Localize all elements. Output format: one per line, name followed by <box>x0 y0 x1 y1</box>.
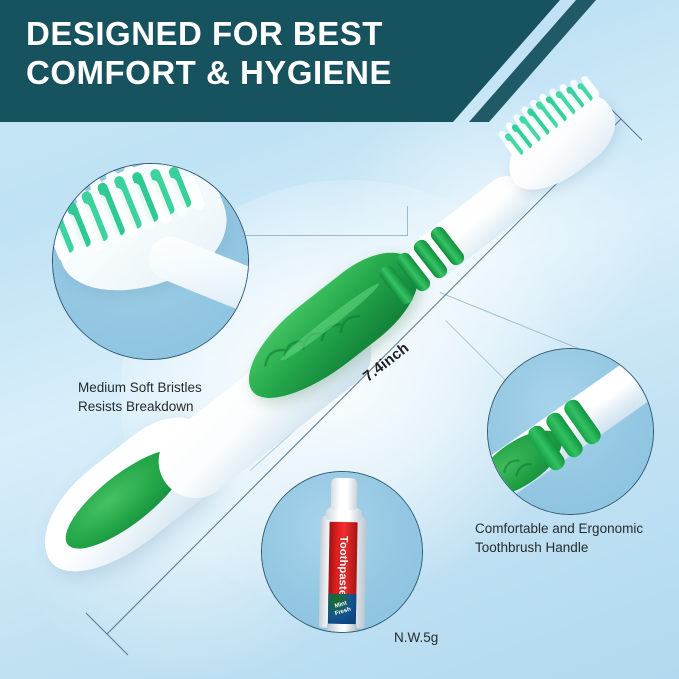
callout-circle-handle <box>487 348 654 515</box>
grip-ring <box>428 224 467 268</box>
banner-title: DESIGNED FOR BEST COMFORT & HYGIENE <box>26 14 392 92</box>
handle-end <box>21 400 235 596</box>
background-glow <box>330 80 660 380</box>
toothpaste-tube: Toothpaste Mint Fresh <box>313 478 374 633</box>
connector-line-bristles <box>228 235 408 236</box>
connector-line-bristles-vert <box>407 206 408 236</box>
grip-ring <box>411 237 450 281</box>
tube-crimp <box>327 624 357 633</box>
header-banner: DESIGNED FOR BEST COMFORT & HYGIENE <box>0 0 679 122</box>
connector-line-tube <box>250 423 303 471</box>
brush-neck <box>401 167 540 289</box>
callout-label-handle: Comfortable and Ergonomic Toothbrush Han… <box>475 519 643 557</box>
handle-end-inlay <box>52 434 199 565</box>
tube-cap <box>331 478 358 510</box>
magnified-handle <box>488 349 653 514</box>
connector-line-handle-upper <box>440 292 579 349</box>
magnified-bristle-tufts <box>52 163 249 360</box>
magnified-grip-ridges <box>488 349 653 514</box>
product-infographic: DESIGNED FOR BEST COMFORT & HYGIENE <box>0 0 679 679</box>
callout-dot-bristles <box>518 155 529 166</box>
dimension-length-label: 7.4inch <box>360 339 412 385</box>
callout-label-bristles: Medium Soft Bristles Resists Breakdown <box>78 378 202 416</box>
grip-ring <box>377 263 416 307</box>
grip-green <box>229 234 437 419</box>
callout-label-weight: N.W.5g <box>394 628 438 647</box>
magnified-brush-head <box>52 163 249 360</box>
callout-circle-toothpaste: Toothpaste Mint Fresh <box>261 471 423 633</box>
grip-ring <box>394 250 433 294</box>
callout-circle-bristles <box>52 163 249 360</box>
